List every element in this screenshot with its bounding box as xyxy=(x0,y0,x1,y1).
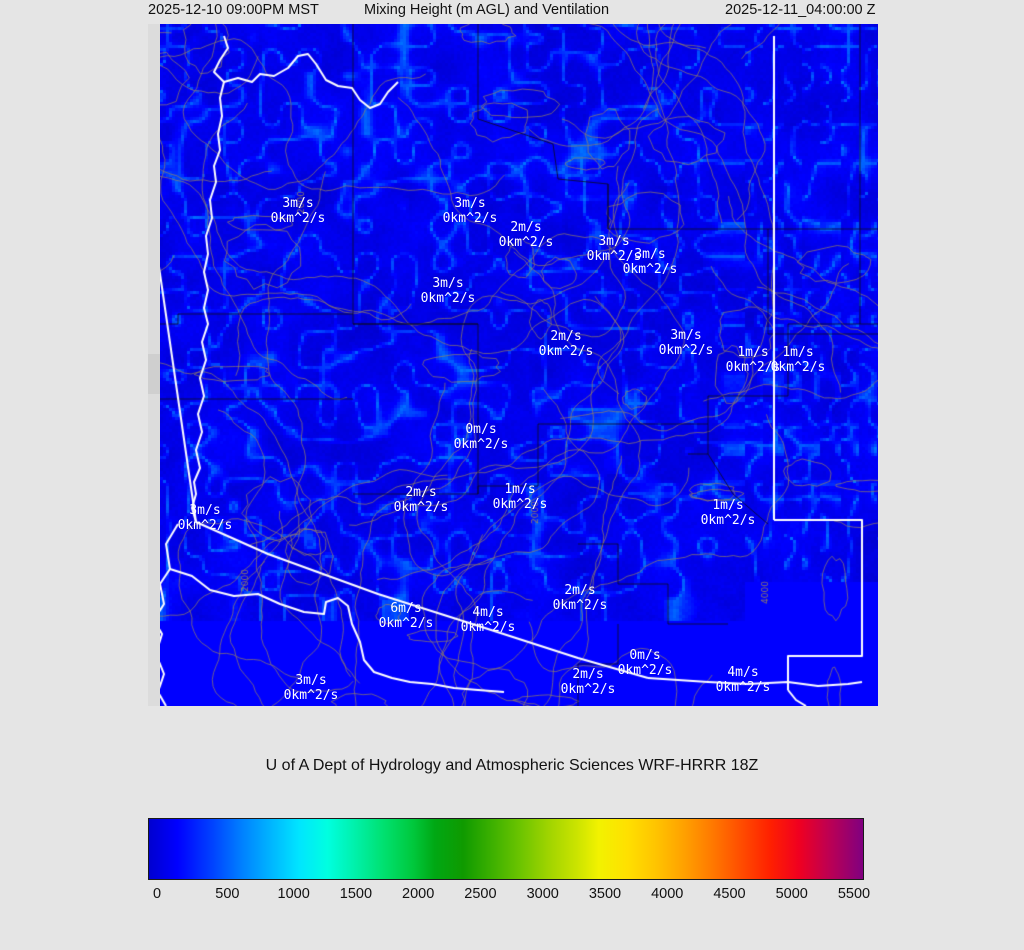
colorbar-tick: 5500 xyxy=(838,886,870,902)
colorbar-tick: 1500 xyxy=(340,886,372,902)
colorbar-tick: 4000 xyxy=(651,886,683,902)
map-left-margin-strip-2 xyxy=(148,354,160,394)
colorbar-tick: 2500 xyxy=(464,886,496,902)
colorbar-tick: 4500 xyxy=(713,886,745,902)
colorbar-panel: 0500100015002000250030003500400045005000… xyxy=(148,818,864,880)
mixing-height-heatmap xyxy=(148,24,878,706)
colorbar-tick: 1000 xyxy=(278,886,310,902)
colorbar-gradient xyxy=(148,818,864,880)
map-panel[interactable]: 3m/s0km^2/s3m/s0km^2/s2m/s0km^2/s3m/s0km… xyxy=(148,24,878,706)
valid-time-utc: 2025-12-11_04:00:00 Z xyxy=(725,2,876,18)
page-title: Mixing Height (m AGL) and Ventilation xyxy=(364,2,609,18)
valid-time-local: 2025-12-10 09:00PM MST xyxy=(148,2,319,18)
colorbar-tick: 500 xyxy=(215,886,239,902)
attribution-caption: U of A Dept of Hydrology and Atmospheric… xyxy=(0,757,1024,775)
colorbar-tick: 3000 xyxy=(527,886,559,902)
colorbar-tick: 0 xyxy=(153,886,161,902)
colorbar-tick: 5000 xyxy=(776,886,808,902)
header-bar: 2025-12-10 09:00PM MST Mixing Height (m … xyxy=(0,0,1024,22)
colorbar-tick: 2000 xyxy=(402,886,434,902)
colorbar-tick: 3500 xyxy=(589,886,621,902)
colorbar-tick-labels: 0500100015002000250030003500400045005000… xyxy=(148,886,888,910)
